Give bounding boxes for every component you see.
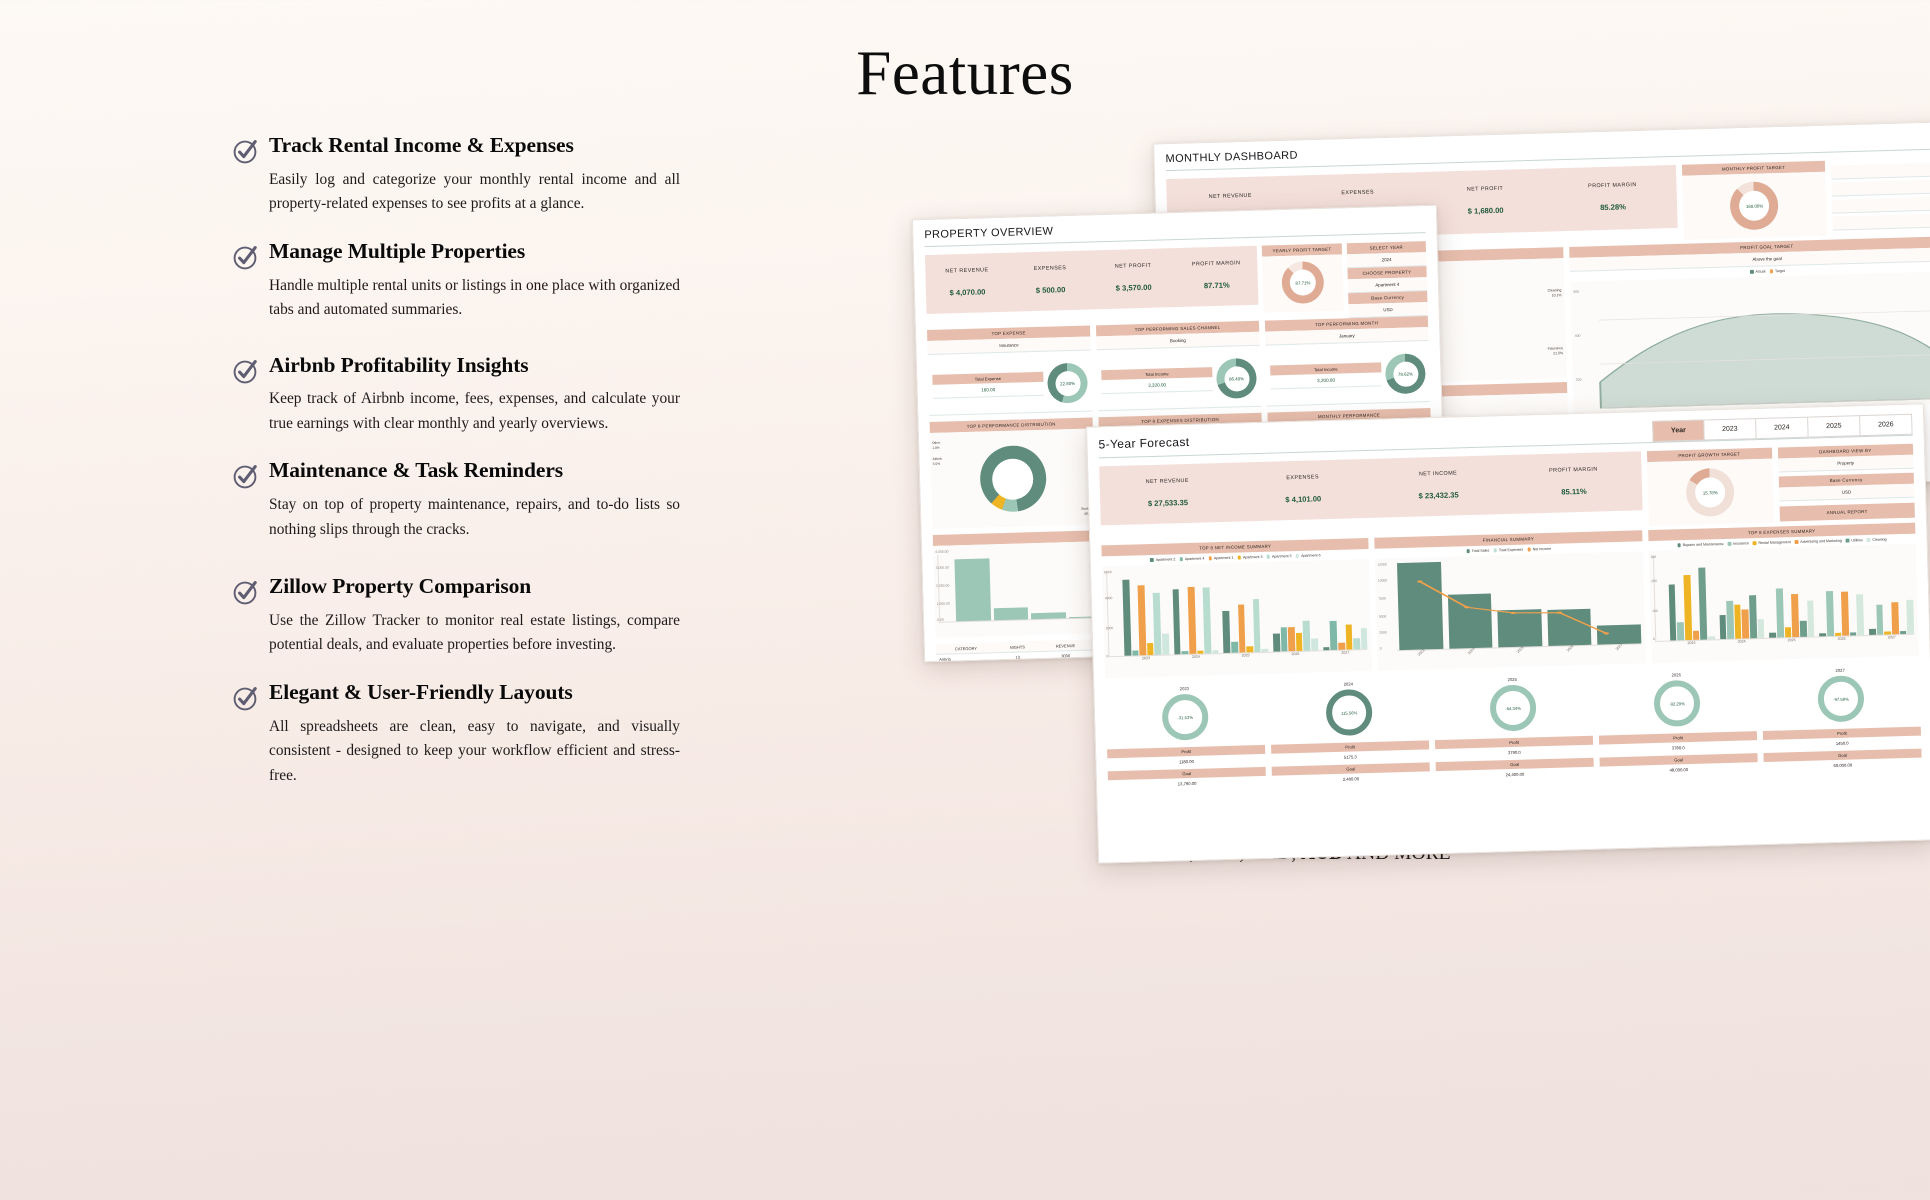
bar-group	[1668, 554, 1715, 640]
bar	[1791, 594, 1799, 637]
highlight-panel: TOP EXPENSE Insurance	[927, 325, 1091, 355]
donut-value: 78.62%	[1398, 371, 1413, 376]
kpi-value: 85.28%	[1549, 201, 1677, 214]
kpi-value: 87.71%	[1175, 280, 1258, 291]
year-tab[interactable]: 2024	[1756, 417, 1809, 439]
year-label: 2026	[1273, 651, 1318, 656]
forecast-kpi-band: NET REVENUE $ 27,533.35 EXPENSES $ 4,101…	[1099, 451, 1642, 525]
kpi-label: NET REVENUE	[925, 267, 1008, 275]
stat-value: 3,320.00	[1101, 377, 1212, 394]
circle-check-icon	[232, 578, 260, 606]
kpi-label: NET INCOME	[1370, 469, 1506, 479]
year-donut-cell: 2026 -92.29% Profit 3780.0 Goal 48,000.0…	[1597, 670, 1758, 776]
donut-value: 15.78%	[1703, 490, 1718, 495]
kpi-value: $ 23,432.35	[1371, 489, 1507, 502]
bar	[1182, 651, 1189, 655]
feature-description: Stay on top of property maintenance, rep…	[269, 493, 697, 542]
bar	[1807, 601, 1815, 637]
growth-donut: -97.58%	[1817, 675, 1864, 722]
bar	[1708, 636, 1715, 640]
kpi-cell: NET REVENUE $ 27,533.35	[1100, 477, 1236, 510]
kpi-value: 85.11%	[1506, 485, 1642, 498]
bar	[1677, 623, 1684, 641]
bar	[1345, 624, 1352, 649]
axis-label: 7500	[1378, 596, 1386, 600]
kpi-label: NET REVENUE	[1100, 477, 1236, 487]
circle-check-icon	[232, 243, 260, 271]
year-label: 2025	[1223, 653, 1268, 658]
bar	[1162, 634, 1169, 655]
bar	[1223, 611, 1231, 653]
kpi-cell: NET PROFIT $ 3,570.00	[1091, 262, 1175, 293]
legend-item: Repairs and Maintenance	[1677, 542, 1724, 547]
year-label: 2023	[1669, 640, 1714, 645]
bar	[1212, 650, 1219, 654]
year-label: 2024	[1719, 639, 1764, 644]
bar	[1884, 631, 1891, 635]
property-title: PROPERTY OVERVIEW	[924, 215, 1425, 246]
feature-title: Maintenance & Task Reminders	[269, 458, 697, 484]
bar	[1734, 605, 1742, 639]
axis-label: 0	[1106, 654, 1108, 658]
kpi-cell: EXPENSES $ 500.00	[1008, 264, 1092, 295]
year-donut-cell: 2027 -97.58% Profit 1450.0 Goal 60,000.0…	[1761, 666, 1922, 772]
bar	[1253, 599, 1261, 652]
kpi-value: $ 500.00	[1009, 284, 1092, 295]
year-donut-cell: 2025 -64.34% Profit 3790.0 Goal 24,400.0…	[1433, 675, 1594, 781]
bar	[1246, 647, 1253, 653]
annual-report-button[interactable]: ANNUAL REPORT	[1779, 503, 1915, 522]
bar	[1280, 627, 1287, 651]
feature-title: Manage Multiple Properties	[269, 239, 697, 265]
bar	[1187, 587, 1195, 654]
bar-group	[1122, 570, 1169, 656]
axis-label: 1,000.00	[937, 602, 950, 606]
year-label: 2025	[1769, 638, 1814, 643]
axis-label: 400	[1575, 334, 1581, 338]
bar	[1197, 650, 1204, 654]
bar	[1850, 632, 1857, 636]
forecast-title: 5-Year Forecast	[1098, 435, 1189, 457]
bar	[1835, 632, 1842, 636]
feature-description: All spreadsheets are clean, easy to navi…	[269, 715, 697, 788]
bar	[993, 607, 1028, 620]
bar	[1891, 602, 1899, 635]
bar	[1448, 594, 1493, 649]
perf-distribution-donut	[979, 445, 1047, 513]
kpi-cell: EXPENSES $ 4,101.00	[1235, 473, 1371, 506]
donut-value: 115.56%	[1341, 710, 1357, 715]
axis-label: 3,000.00	[936, 566, 949, 570]
highlight-panel: TOP PERFORMING MONTH January	[1265, 316, 1429, 346]
donut-value: -97.58%	[1833, 696, 1849, 701]
stat-donut: 22.80%	[1047, 363, 1088, 404]
axis-label: 12500	[1377, 562, 1387, 566]
year-tab[interactable]: Year	[1652, 420, 1705, 442]
page-title: Features	[0, 0, 1930, 106]
legend-item: Apartment 6	[1296, 553, 1321, 558]
kpi-value: $ 1,680.00	[1422, 204, 1550, 217]
axis-label: 2,000.00	[936, 584, 949, 588]
year-label: 2024	[1173, 654, 1218, 659]
stat-panel: Total Income 3,200.00 78.62%	[1266, 347, 1430, 407]
bar-group	[1867, 549, 1914, 635]
growth-donut: -31.53%	[1162, 693, 1209, 740]
year-label: 2023	[1124, 656, 1169, 661]
axis-label: 5000	[1379, 614, 1387, 618]
stat-panel: Total Income 3,320.00 86.49%	[1097, 352, 1261, 412]
axis-label: 200	[1576, 378, 1582, 382]
circle-check-icon	[232, 357, 260, 385]
circle-check-icon	[232, 137, 260, 165]
bar	[1338, 643, 1345, 650]
stat-value: 160.00	[933, 382, 1044, 399]
feature-item: Elegant & User-Friendly Layouts All spre…	[232, 680, 697, 788]
legend-item: Apartment 1	[1208, 556, 1233, 561]
legend-item: Insurance	[1728, 541, 1749, 546]
legend-item: Apartment 2	[1150, 557, 1175, 562]
axis-label: 0.00	[937, 618, 944, 622]
legend-item: Total Sales	[1466, 549, 1489, 554]
forecast-year-tabs[interactable]: Year2023202420252026	[1652, 414, 1912, 442]
feature-item: Manage Multiple Properties Handle multip…	[232, 239, 697, 323]
bar	[1353, 638, 1360, 649]
feature-description: Easily log and categorize your monthly r…	[269, 168, 697, 217]
bar-group	[1817, 550, 1864, 636]
kpi-value: $ 4,070.00	[926, 287, 1009, 298]
legend-item: Actual	[1750, 269, 1766, 273]
bar	[1231, 642, 1238, 653]
bar	[1172, 589, 1180, 654]
axis-label: 100	[1652, 609, 1658, 613]
growth-donut: 115.56%	[1326, 689, 1373, 736]
feature-item: Zillow Property Comparison Use the Zillo…	[232, 574, 697, 658]
kpi-value: $ 27,533.35	[1100, 497, 1236, 510]
screenshot-5year-forecast[interactable]: 5-Year Forecast Year2023202420252026 NET…	[1086, 403, 1930, 863]
donut-value: 87.71%	[1295, 280, 1310, 285]
table-cell: 13	[996, 652, 1039, 663]
bar	[1296, 633, 1303, 651]
circle-check-icon	[232, 684, 260, 712]
donut-value: -64.34%	[1505, 705, 1521, 710]
bar	[1907, 600, 1915, 634]
bar	[1153, 593, 1161, 655]
bar	[1303, 620, 1310, 651]
bar-group	[1767, 552, 1814, 638]
axis-label: 600	[1573, 290, 1579, 294]
kpi-label: NET PROFIT	[1091, 262, 1174, 270]
net-income-grouped-bars	[1106, 564, 1368, 657]
circle-check-icon	[232, 462, 260, 490]
axis-label: 6000	[1104, 570, 1112, 574]
year-label: 2026	[1819, 636, 1864, 641]
kpi-label: PROFIT MARGIN	[1506, 465, 1642, 475]
bar-group	[1172, 568, 1219, 654]
donut-label-insurance: Insurance21.5%	[1548, 346, 1564, 357]
bar-group	[1717, 553, 1764, 639]
bar	[1273, 634, 1280, 652]
feature-description: Use the Zillow Tracker to monitor real e…	[269, 609, 697, 658]
bar	[1262, 648, 1269, 652]
table-cell: 100	[1039, 660, 1093, 662]
monthly-select-2[interactable]	[1832, 179, 1930, 197]
legend-item: Cleaning	[1867, 537, 1887, 542]
feature-title: Elegant & User-Friendly Layouts	[269, 680, 697, 706]
bar-group	[1271, 565, 1318, 651]
bar	[1719, 615, 1726, 640]
bar	[1869, 629, 1876, 635]
donut-value: -92.29%	[1669, 701, 1685, 706]
kpi-label: PROFIT MARGIN	[1549, 181, 1677, 191]
profit-area-chart	[1574, 276, 1930, 417]
property-stats: Total Expense 160.00 22.80% Total Income…	[928, 347, 1430, 416]
growth-donut: -64.34%	[1489, 684, 1536, 731]
bar	[1900, 631, 1907, 635]
legend-item: Apartment 3	[1237, 555, 1262, 560]
stat-donut: 78.62%	[1385, 353, 1426, 394]
donut-value: 86.49%	[1229, 376, 1244, 381]
legend-item: Apartment 4	[1179, 557, 1204, 562]
bar	[1668, 585, 1676, 641]
feature-item: Maintenance & Task Reminders Stay on top…	[232, 458, 697, 542]
donut-label-cleaning: Cleaning10.1%	[1548, 288, 1562, 299]
donut-value: 22.80%	[1060, 380, 1075, 385]
bar	[1876, 605, 1883, 635]
feature-description: Handle multiple rental units or listings…	[269, 274, 697, 323]
bar	[1693, 630, 1700, 639]
kpi-label: EXPENSES	[1294, 188, 1422, 198]
legend-item: Advertising and Marketing	[1795, 539, 1842, 544]
bar	[1742, 610, 1749, 639]
axis-label: 2500	[1379, 630, 1387, 634]
yearly-profit-donut: 87.71%	[1281, 261, 1324, 304]
bar-group	[1321, 564, 1368, 650]
kpi-label: NET PROFIT	[1421, 184, 1549, 194]
year-tab[interactable]: 2023	[1704, 418, 1757, 440]
bar	[1776, 588, 1784, 637]
feature-title: Track Rental Income & Expenses	[269, 133, 697, 159]
growth-donut: -92.29%	[1653, 680, 1700, 727]
year-donut-cell: 2023 -31.53% Profit 1180.00 Goal 13,790.…	[1105, 684, 1266, 790]
growth-target-donut: 15.78%	[1686, 468, 1735, 517]
dashboard-showcase: MONTHLY DASHBOARD NET REVENUE $ 1,970.00…	[900, 110, 1930, 810]
axis-label: 0	[1380, 647, 1382, 651]
bar	[1323, 647, 1330, 651]
axis-label: 2000	[1106, 626, 1114, 630]
bar	[954, 559, 990, 622]
year-tab[interactable]: 2025	[1808, 415, 1861, 437]
stat-donut: 86.49%	[1216, 358, 1257, 399]
stat-value: 3,200.00	[1270, 372, 1381, 389]
kpi-label: PROFIT MARGIN	[1175, 260, 1258, 268]
bar	[1769, 633, 1776, 638]
legend-item: Rental Management	[1753, 540, 1791, 545]
bar	[1826, 591, 1834, 636]
axis-label: 300	[1651, 555, 1657, 559]
year-tab[interactable]: 2026	[1860, 414, 1913, 436]
dashboard-view-value[interactable]: Property	[1778, 455, 1914, 473]
axis-label: 4,000.00	[935, 550, 948, 554]
bar	[1698, 567, 1707, 639]
expenses-grouped-bars	[1653, 549, 1915, 642]
property-selects: SELECT YEAR 2024CHOOSE PROPERTY Apartmen…	[1346, 241, 1427, 318]
feature-title: Zillow Property Comparison	[269, 574, 697, 600]
bar	[1749, 595, 1757, 638]
kpi-label: EXPENSES	[1008, 264, 1091, 272]
bar	[1819, 633, 1826, 637]
monthly-select-1[interactable]	[1831, 162, 1930, 180]
kpi-value: $ 4,101.00	[1235, 493, 1371, 506]
axis-label: 0	[1653, 637, 1655, 641]
feature-list: Track Rental Income & Expenses Easily lo…	[232, 133, 697, 788]
bar	[1203, 587, 1211, 653]
donut-value: 168.00%	[1746, 203, 1763, 208]
kpi-cell: NET INCOME $ 23,432.35	[1370, 469, 1506, 502]
legend-item: Apartment 5	[1266, 554, 1291, 559]
bar	[1122, 580, 1131, 656]
bar	[1132, 650, 1139, 655]
bar	[1361, 628, 1368, 649]
feature-title: Airbnb Profitability Insights	[269, 353, 697, 379]
table-cell: Airbnb	[936, 653, 996, 663]
financial-bars	[1395, 556, 1641, 651]
bar	[1757, 618, 1764, 638]
year-label: 2027	[1323, 650, 1368, 655]
bar	[1330, 621, 1337, 650]
axis-label: 200	[1651, 579, 1657, 583]
bar	[1498, 610, 1542, 648]
base-currency-value[interactable]: USD	[1779, 484, 1915, 502]
legend-item: Net Income	[1527, 547, 1551, 552]
year-donut-cell: 2024 115.56% Profit 5175.3 Goal 2,400.00	[1269, 679, 1430, 785]
bar	[1031, 612, 1066, 619]
bar	[1138, 585, 1147, 655]
donut-value: -31.53%	[1177, 714, 1193, 719]
axis-label: 10000	[1378, 578, 1388, 582]
bar-group	[1221, 567, 1268, 653]
bar	[1841, 591, 1849, 635]
kpi-cell: PROFIT MARGIN 85.11%	[1506, 465, 1642, 498]
legend-item: Utilities	[1846, 538, 1863, 542]
donut-note: Other1.0%	[932, 441, 940, 451]
feature-item: Track Rental Income & Expenses Easily lo…	[232, 133, 697, 217]
monthly-select-4[interactable]	[1833, 213, 1930, 231]
monthly-select-3[interactable]	[1832, 196, 1930, 214]
bar	[1683, 575, 1691, 640]
legend-item: Total Expenses	[1493, 548, 1523, 553]
bar	[1547, 609, 1591, 646]
feature-item: Airbnb Profitability Insights Keep track…	[232, 353, 697, 437]
bar	[1311, 639, 1318, 651]
highlight-panel: TOP PERFORMING SALES CHANNEL Booking	[1096, 321, 1260, 351]
stat-panel: Total Expense 160.00 22.80%	[928, 356, 1092, 416]
year-label: 2027	[1869, 635, 1914, 640]
legend-item: Target	[1769, 269, 1785, 273]
kpi-cell: NET PROFIT $ 1,680.00	[1421, 184, 1549, 217]
bar	[1785, 627, 1792, 637]
monthly-profit-donut: 168.00%	[1730, 181, 1779, 230]
kpi-value: $ 3,570.00	[1092, 282, 1175, 293]
bar	[1238, 604, 1246, 652]
bar	[1288, 627, 1295, 651]
kpi-cell: PROFIT MARGIN 87.71%	[1175, 260, 1259, 291]
bar	[1726, 601, 1734, 639]
table-cell: 3000	[1039, 650, 1093, 662]
feature-description: Keep track of Airbnb income, fees, expen…	[269, 387, 697, 436]
kpi-cell: PROFIT MARGIN 85.28%	[1549, 181, 1677, 214]
donut-note: Airbnb5.0%	[933, 457, 942, 467]
forecast-year-donuts: 2023 -31.53% Profit 1180.00 Goal 13,790.…	[1105, 662, 1922, 791]
kpi-cell: NET REVENUE $ 4,070.00	[925, 267, 1009, 298]
bar	[1856, 594, 1864, 636]
axis-label: 4000	[1105, 596, 1113, 600]
bar	[1800, 620, 1807, 637]
property-kpi-band: NET REVENUE $ 4,070.00 EXPENSES $ 500.00…	[925, 246, 1259, 314]
bar	[1147, 643, 1154, 655]
kpi-label: NET REVENUE	[1167, 192, 1295, 202]
kpi-label: EXPENSES	[1235, 473, 1371, 483]
